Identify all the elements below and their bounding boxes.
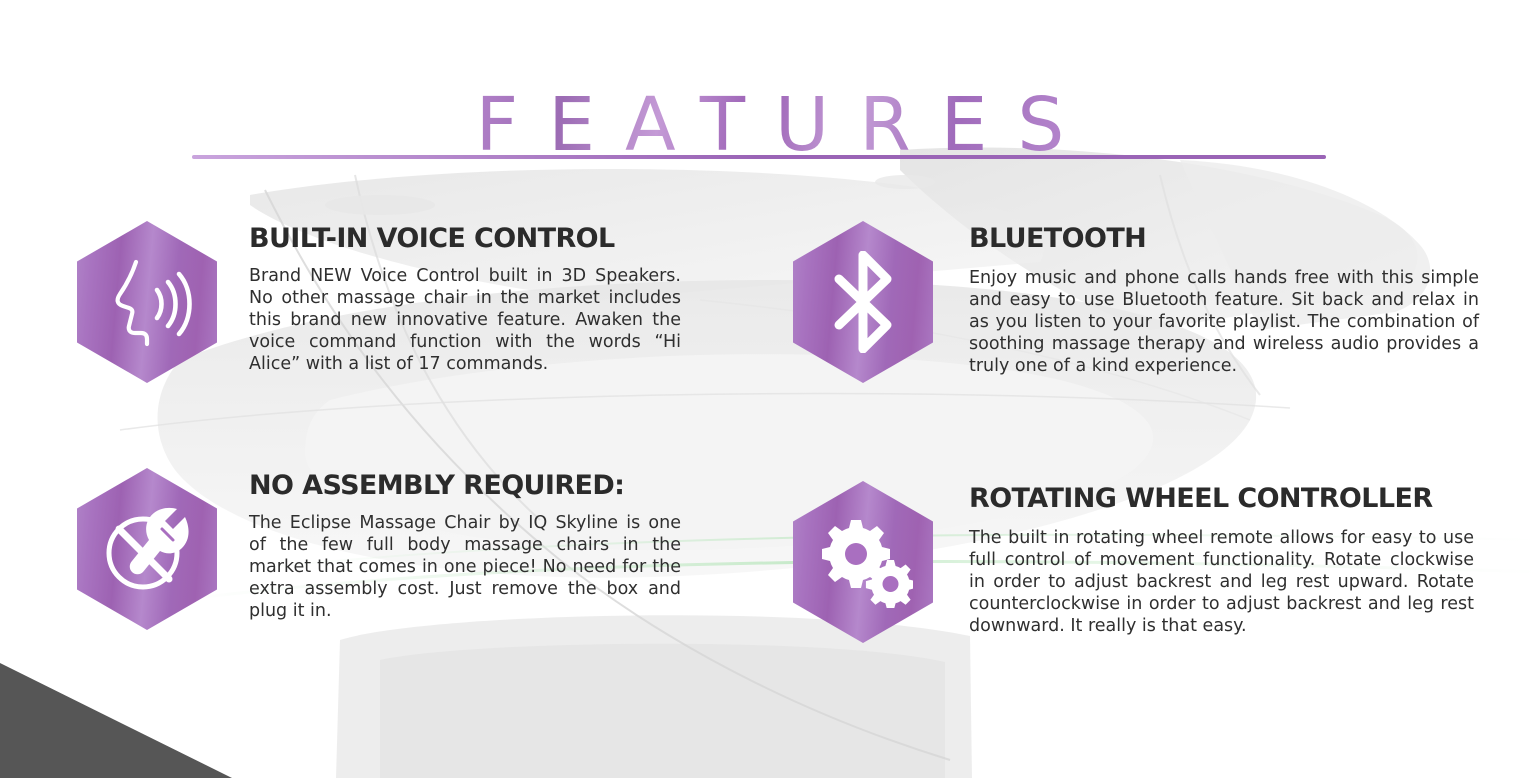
feature-icon-badge (793, 221, 933, 383)
voice-control-icon (102, 254, 192, 350)
feature-icon-badge (77, 221, 217, 383)
feature-icon-badge (77, 468, 217, 630)
feature-body: Enjoy music and phone calls hands free w… (969, 267, 1479, 377)
feature-item-no-assembly: NO ASSEMBLY REQUIRED: The Eclipse Massag… (77, 468, 687, 630)
feature-icon-badge (793, 481, 933, 643)
feature-text-block: ROTATING WHEEL CONTROLLER The built in r… (933, 481, 1483, 637)
page-title: FEATURES (446, 88, 1095, 162)
feature-heading: BUILT-IN VOICE CONTROL (249, 225, 687, 253)
feature-heading: ROTATING WHEEL CONTROLLER (969, 485, 1483, 513)
feature-item-voice-control: BUILT-IN VOICE CONTROL Brand NEW Voice C… (77, 221, 687, 383)
feature-item-bluetooth: BLUETOOTH Enjoy music and phone calls ha… (793, 221, 1483, 383)
feature-item-rotating-wheel: ROTATING WHEEL CONTROLLER The built in r… (793, 481, 1483, 643)
feature-body: The Eclipse Massage Chair by IQ Skyline … (249, 512, 681, 622)
gears-icon (813, 516, 913, 608)
feature-text-block: BUILT-IN VOICE CONTROL Brand NEW Voice C… (217, 221, 687, 375)
feature-body: The built in rotating wheel remote allow… (969, 527, 1474, 637)
feature-text-block: BLUETOOTH Enjoy music and phone calls ha… (933, 221, 1483, 377)
features-page: FEATURES BUILT-IN VOICE CONTROL Brand NE… (0, 0, 1540, 778)
feature-text-block: NO ASSEMBLY REQUIRED: The Eclipse Massag… (217, 468, 687, 622)
title-divider (192, 155, 1326, 159)
feature-body: Brand NEW Voice Control built in 3D Spea… (249, 265, 681, 375)
corner-triangle-decoration (0, 663, 232, 778)
bluetooth-icon (827, 251, 899, 353)
feature-heading: NO ASSEMBLY REQUIRED: (249, 472, 687, 500)
no-assembly-icon (99, 501, 195, 597)
feature-heading: BLUETOOTH (969, 225, 1483, 253)
page-title-wrap: FEATURES (0, 38, 1540, 211)
